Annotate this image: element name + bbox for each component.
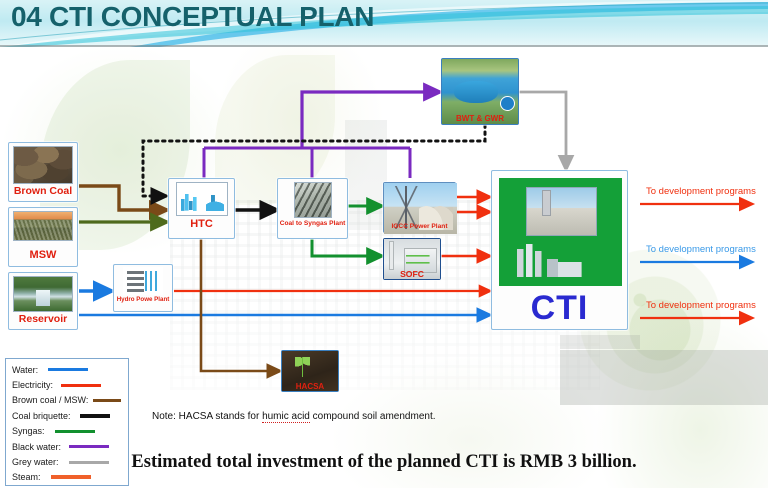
legend-swatch-electricity	[61, 384, 101, 387]
node-igcc-power-plant-label: IGCC Power Plant	[384, 224, 455, 231]
legend-item-electricity: Electricity:	[6, 377, 128, 392]
node-cti[interactable]: CTI	[491, 170, 628, 330]
recycle-badge-icon	[500, 96, 515, 111]
header-divider	[0, 45, 768, 47]
background-grey-band	[560, 350, 768, 405]
legend-item-syngas: Syngas:	[6, 424, 128, 439]
output-label-1: To development programs	[646, 186, 756, 197]
page-title: 04 CTI CONCEPTUAL PLAN	[11, 1, 374, 33]
node-coal-to-syngas-plant[interactable]: Coal to Syngas Plant	[277, 178, 348, 239]
legend-swatch-black-water	[69, 445, 109, 448]
legend-label-water: Water:	[12, 365, 38, 375]
legend-item-water: Water:	[6, 359, 128, 377]
node-htc[interactable]: HTC	[168, 178, 235, 239]
node-cti-label: CTI	[492, 291, 627, 325]
node-sofc-label: SOFC	[384, 270, 440, 279]
node-hydro-power-plant-label: Hydro Powe Plant	[114, 297, 172, 304]
legend-label-syngas: Syngas:	[12, 426, 45, 436]
node-brown-coal[interactable]: Brown Coal	[8, 142, 78, 202]
node-coal-to-syngas-plant-label: Coal to Syngas Plant	[278, 221, 347, 228]
legend-item-coal-briquette: Coal briquette:	[6, 408, 128, 423]
legend-label-brown-coal-msw: Brown coal / MSW:	[12, 395, 88, 405]
output-label-2: To development programs	[646, 244, 756, 255]
note-text: Note: HACSA stands for humic acid compou…	[152, 411, 436, 422]
node-htc-label: HTC	[169, 219, 234, 231]
node-reservoir[interactable]: Reservoir	[8, 272, 78, 330]
background-grey-band-small	[560, 335, 640, 349]
node-brown-coal-label: Brown Coal	[9, 186, 77, 197]
output-label-3: To development programs	[646, 300, 756, 311]
cti-photo-bottom	[514, 241, 607, 278]
node-hydro-power-plant[interactable]: Hydro Powe Plant	[113, 264, 173, 312]
legend-label-coal-briquette: Coal briquette:	[12, 411, 71, 421]
syngas-plant-photo	[294, 182, 332, 218]
legend-label-steam: Steam:	[12, 472, 41, 482]
slide-canvas: 04 CTI CONCEPTUAL PLAN	[0, 0, 768, 488]
note-term: humic acid	[262, 411, 310, 423]
legend-swatch-brown-coal-msw	[93, 399, 121, 402]
cti-photo-top	[526, 187, 597, 237]
hydro-plant-icon	[123, 267, 163, 295]
node-igcc-power-plant[interactable]: IGCC Power Plant	[383, 182, 456, 233]
node-hacsa[interactable]: HACSA	[281, 350, 339, 392]
node-msw[interactable]: MSW	[8, 207, 78, 267]
legend-swatch-water	[48, 368, 88, 371]
slide-header: 04 CTI CONCEPTUAL PLAN	[0, 0, 768, 47]
legend-swatch-coal-briquette	[80, 414, 110, 418]
reservoir-dam-photo	[13, 276, 73, 312]
legend-label-black-water: Black water:	[12, 442, 61, 452]
legend-item-brown-coal-msw: Brown coal / MSW:	[6, 393, 128, 408]
note-suffix: compound soil amendment.	[310, 411, 436, 422]
node-bwt-gwr[interactable]: BWT & GWR	[441, 58, 519, 125]
note-prefix: Note: HACSA stands for	[152, 411, 262, 422]
node-sofc[interactable]: SOFC	[383, 238, 441, 280]
legend-swatch-syngas	[55, 430, 95, 433]
municipal-solid-waste-photo	[13, 211, 73, 241]
node-hacsa-label: HACSA	[282, 383, 338, 391]
industrial-complex-photo	[499, 178, 622, 286]
coal-photo	[13, 146, 73, 184]
legend-label-electricity: Electricity:	[12, 380, 53, 390]
investment-headline: Estimated total investment of the planne…	[0, 452, 768, 473]
node-bwt-gwr-label: BWT & GWR	[442, 115, 518, 123]
node-msw-label: MSW	[9, 250, 77, 262]
node-reservoir-label: Reservoir	[9, 314, 77, 325]
background-tower	[345, 120, 387, 230]
legend-swatch-steam	[51, 475, 91, 479]
htc-chart-icon	[176, 182, 228, 216]
